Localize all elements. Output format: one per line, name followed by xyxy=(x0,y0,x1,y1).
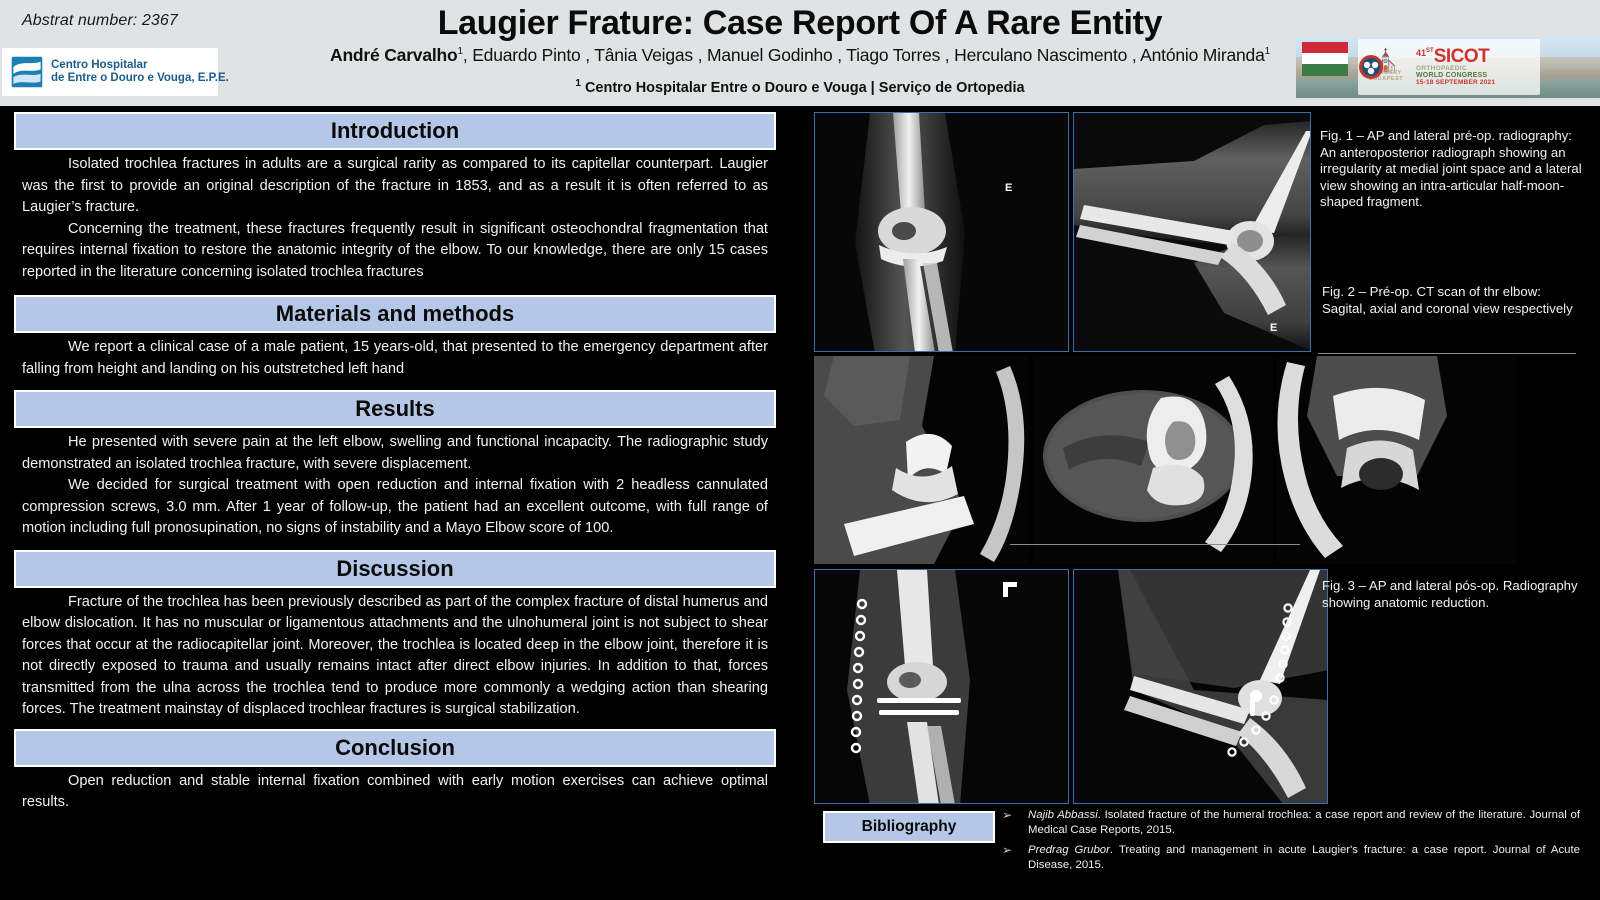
results-paragraph-2: We decided for surgical treatment with o… xyxy=(22,475,768,540)
congress-ordinal: 41 xyxy=(1416,48,1426,58)
bibliography-citation: . Treating and management in acute Laugi… xyxy=(1028,844,1580,871)
bibliography-list: ➢ Najib Abbassi. Isolated fracture of th… xyxy=(1002,808,1580,878)
section-body-results: He presented with severe pain at the lef… xyxy=(22,432,768,540)
lateral-radiograph-image: E xyxy=(1074,113,1311,352)
section-body-introduction: Isolated trochlea fractures in adults ar… xyxy=(22,154,768,283)
postop-lateral-image xyxy=(1074,570,1328,804)
figure-1-caption: Fig. 1 – AP and lateral pré-op. radiogra… xyxy=(1320,128,1582,211)
figure-preop-lateral-radiograph: E xyxy=(1073,112,1311,352)
congress-dates: 15-18 SEPTEMBER 2021 xyxy=(1416,79,1540,86)
bibliography-header: Bibliography xyxy=(823,811,995,843)
figure-3-caption: Fig. 3 – AP and lateral pós-op. Radiogra… xyxy=(1322,578,1580,611)
figure-postop-lateral-radiograph xyxy=(1073,569,1328,804)
hungary-flag-icon xyxy=(1302,42,1348,76)
materials-paragraph-1: We report a clinical case of a male pati… xyxy=(22,337,768,380)
affil-marker-line: 1 xyxy=(575,78,581,89)
discussion-paragraph-1: Fracture of the trochlea has been previo… xyxy=(22,592,768,721)
bullet-arrow-icon: ➢ xyxy=(1002,843,1028,873)
ct-coronal-image xyxy=(1277,356,1517,564)
section-header-discussion: Discussion xyxy=(14,550,776,588)
bibliography-citation: . Isolated fracture of the humeral troch… xyxy=(1028,809,1580,836)
bibliography-author: Predrag Grubor xyxy=(1028,844,1110,856)
figure-2-caption: Fig. 2 – Pré-op. CT scan of thr elbow: S… xyxy=(1322,284,1574,317)
conclusion-paragraph-1: Open reduction and stable internal fixat… xyxy=(22,771,768,814)
section-header-introduction: Introduction xyxy=(14,112,776,150)
postop-ap-image xyxy=(815,570,1069,804)
section-body-conclusion: Open reduction and stable internal fixat… xyxy=(22,771,768,814)
bibliography-entry: ➢ Predrag Grubor. Treating and managemen… xyxy=(1002,843,1580,873)
lead-author: André Carvalho xyxy=(330,45,458,65)
section-body-materials: We report a clinical case of a male pati… xyxy=(22,337,768,380)
figure-ct-sagittal xyxy=(814,356,1029,564)
caption-divider-top xyxy=(1318,353,1576,354)
affil-marker-last: 1 xyxy=(1265,46,1270,57)
poster-canvas: Abstrat number: 2367 Centro Hospitalar d… xyxy=(0,0,1600,900)
ct-axial-image xyxy=(1033,356,1273,564)
figure-ct-axial xyxy=(1033,356,1273,564)
figure-postop-ap-radiograph xyxy=(814,569,1069,804)
section-header-results: Results xyxy=(14,390,776,428)
poster-header: Abstrat number: 2367 Centro Hospitalar d… xyxy=(0,0,1600,106)
section-header-materials: Materials and methods xyxy=(14,295,776,333)
results-paragraph-1: He presented with severe pain at the lef… xyxy=(22,432,768,475)
intro-paragraph-2: Concerning the treatment, these fracture… xyxy=(22,219,768,284)
figures-column: E E E xyxy=(790,106,1600,900)
bibliography-entry: ➢ Najib Abbassi. Isolated fracture of th… xyxy=(1002,808,1580,838)
content-column: Introduction Isolated trochlea fractures… xyxy=(0,106,790,900)
sicot-emblem-icon xyxy=(1358,54,1384,80)
svg-text:E: E xyxy=(1005,182,1012,194)
intro-paragraph-1: Isolated trochlea fractures in adults ar… xyxy=(22,154,768,219)
ct-sagittal-image xyxy=(814,356,1029,564)
bibliography-entry-text: Predrag Grubor. Treating and management … xyxy=(1028,843,1580,873)
congress-card: ⛪ HUNGARY BUDAPEST 41ST SICOT ORTHOPAEDI… xyxy=(1358,39,1540,95)
affiliation-text: Centro Hospitalar Entre o Douro e Vouga … xyxy=(585,80,1025,96)
bullet-arrow-icon: ➢ xyxy=(1002,808,1028,838)
congress-ordinal-suffix: ST xyxy=(1426,48,1434,54)
section-body-discussion: Fracture of the trochlea has been previo… xyxy=(22,592,768,721)
svg-text:E: E xyxy=(1270,322,1277,334)
congress-world-congress: WORLD CONGRESS xyxy=(1416,72,1540,79)
section-header-conclusion: Conclusion xyxy=(14,729,776,767)
congress-wordmark: 41ST SICOT ORTHOPAEDIC WORLD CONGRESS 15… xyxy=(1414,48,1540,86)
figure-preop-ap-radiograph: E xyxy=(814,112,1069,352)
congress-banner: ⛪ HUNGARY BUDAPEST 41ST SICOT ORTHOPAEDI… xyxy=(1296,36,1600,98)
bibliography-author: Najib Abbassi xyxy=(1028,809,1098,821)
ap-radiograph-image: E xyxy=(815,113,1069,352)
coauthors: , Eduardo Pinto , Tânia Veigas , Manuel … xyxy=(463,45,1265,65)
bibliography-entry-text: Najib Abbassi. Isolated fracture of the … xyxy=(1028,808,1580,838)
figure-ct-coronal xyxy=(1277,356,1517,564)
congress-name: SICOT xyxy=(1434,48,1490,65)
ct-row-divider xyxy=(1010,544,1300,545)
